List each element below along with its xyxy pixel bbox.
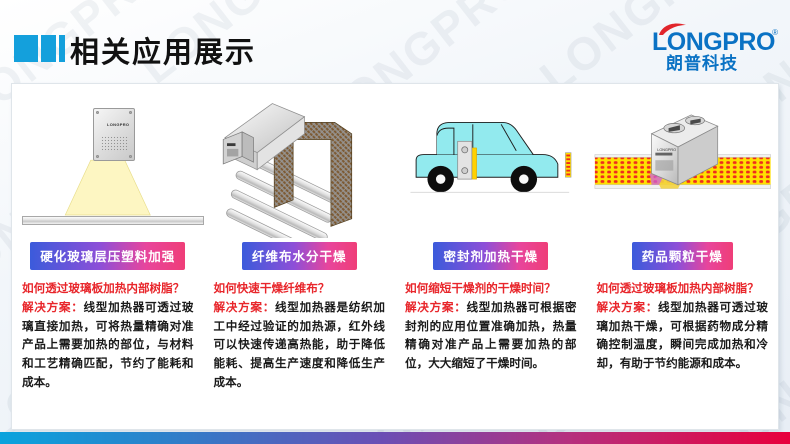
- panel-tag-2: 纤维布水分干燥: [242, 242, 357, 270]
- accent-bar-1: [14, 35, 38, 62]
- panel-body-3: 如何缩短干燥剂的干燥时间？ 解决方案：线型加热器可根据密封剂的应用位置准确加热，…: [401, 280, 581, 374]
- application-panel-3: 密封剂加热干燥 如何缩短干燥剂的干燥时间？ 解决方案：线型加热器可根据密封剂的应…: [395, 84, 587, 429]
- conveyor-surface: [22, 216, 204, 225]
- logo-registered-mark: ®: [772, 28, 778, 37]
- heater-grill: [101, 136, 129, 152]
- panel-tag-3: 密封剂加热干燥: [433, 242, 548, 270]
- application-panels: LONGPRO 硬化玻璃层压塑料加强 如何透过玻璃板加热内部树脂？ 解决方案：线…: [12, 84, 778, 429]
- panel-tag-1: 硬化玻璃层压塑料加强: [30, 242, 185, 270]
- longpro-logo: LONGPRO ® 朗普科技: [652, 22, 776, 74]
- panel-solution-label-2: 解决方案：: [214, 301, 276, 314]
- panel-question-4: 如何透过玻璃板加热内部树脂？: [597, 280, 769, 299]
- fabric-web-illustration: [210, 90, 390, 238]
- panel-solution-text-1: 线型加热器可透过玻璃直接加热，可将热量精确对准产品上需要加热的部位，与材料和工艺…: [22, 301, 194, 389]
- figure-granule-conveyor-heater: LONGPRO: [593, 90, 773, 238]
- title-accent-bars: [14, 35, 65, 62]
- figure-heater-light-cone: LONGPRO: [18, 90, 198, 238]
- panel-body-2: 如何快速干燥纤维布？ 解决方案：线型加热器是纺织加工中经过验证的加热源，红外线可…: [210, 280, 390, 393]
- logo-cjk-text: 朗普科技: [666, 55, 738, 72]
- panel-solution-label-3: 解决方案：: [405, 301, 467, 314]
- svg-text:LONGPRO: LONGPRO: [657, 148, 676, 152]
- page-title: 相关应用展示: [70, 29, 256, 71]
- logo-latin-text: LONGPRO: [652, 30, 775, 55]
- panel-body-1: 如何透过玻璃板加热内部树脂？ 解决方案：线型加热器可透过玻璃直接加热，可将热量精…: [18, 280, 198, 393]
- application-panel-2: 纤维布水分干燥 如何快速干燥纤维布？ 解决方案：线型加热器是纺织加工中经过验证的…: [204, 84, 396, 429]
- page-header: 相关应用展示 LONGPRO ® 朗普科技: [0, 0, 790, 82]
- accent-bar-3: [59, 35, 65, 62]
- granule-conveyor-illustration: LONGPRO: [593, 90, 773, 238]
- panel-question-1: 如何透过玻璃板加热内部树脂？: [22, 280, 194, 299]
- panel-solution-text-2: 线型加热器是纺织加工中经过验证的加热源，红外线可以快速传递高热能，助于降低能耗、…: [214, 301, 386, 389]
- heater-unit: LONGPRO: [93, 108, 135, 161]
- application-panel-1: LONGPRO 硬化玻璃层压塑料加强 如何透过玻璃板加热内部树脂？ 解决方案：线…: [12, 84, 204, 429]
- application-panel-4: LONGPRO 药品颗粒干燥 如何透过玻璃板加热内部树脂？ 解决方案：线型加热器…: [587, 84, 779, 429]
- figure-car-sealant-heater: [401, 90, 581, 238]
- figure-fabric-web-heater: [210, 90, 390, 238]
- bottom-gradient-bar: [0, 432, 790, 444]
- panel-tag-4: 药品颗粒干燥: [632, 242, 733, 270]
- panel-solution-label-4: 解决方案：: [597, 301, 659, 314]
- accent-bar-2: [41, 35, 56, 62]
- content-card: LONGPRO 硬化玻璃层压塑料加强 如何透过玻璃板加热内部树脂？ 解决方案：线…: [11, 83, 779, 430]
- car-illustration: [401, 90, 581, 238]
- panel-question-2: 如何快速干燥纤维布？: [214, 280, 386, 299]
- panel-question-3: 如何缩短干燥剂的干燥时间？: [405, 280, 577, 299]
- heater-brand-mark: LONGPRO: [107, 122, 129, 127]
- panel-body-4: 如何透过玻璃板加热内部树脂？ 解决方案：线型加热器可透过玻璃加热干燥，可根据药物…: [593, 280, 773, 374]
- panel-solution-label-1: 解决方案：: [22, 301, 84, 314]
